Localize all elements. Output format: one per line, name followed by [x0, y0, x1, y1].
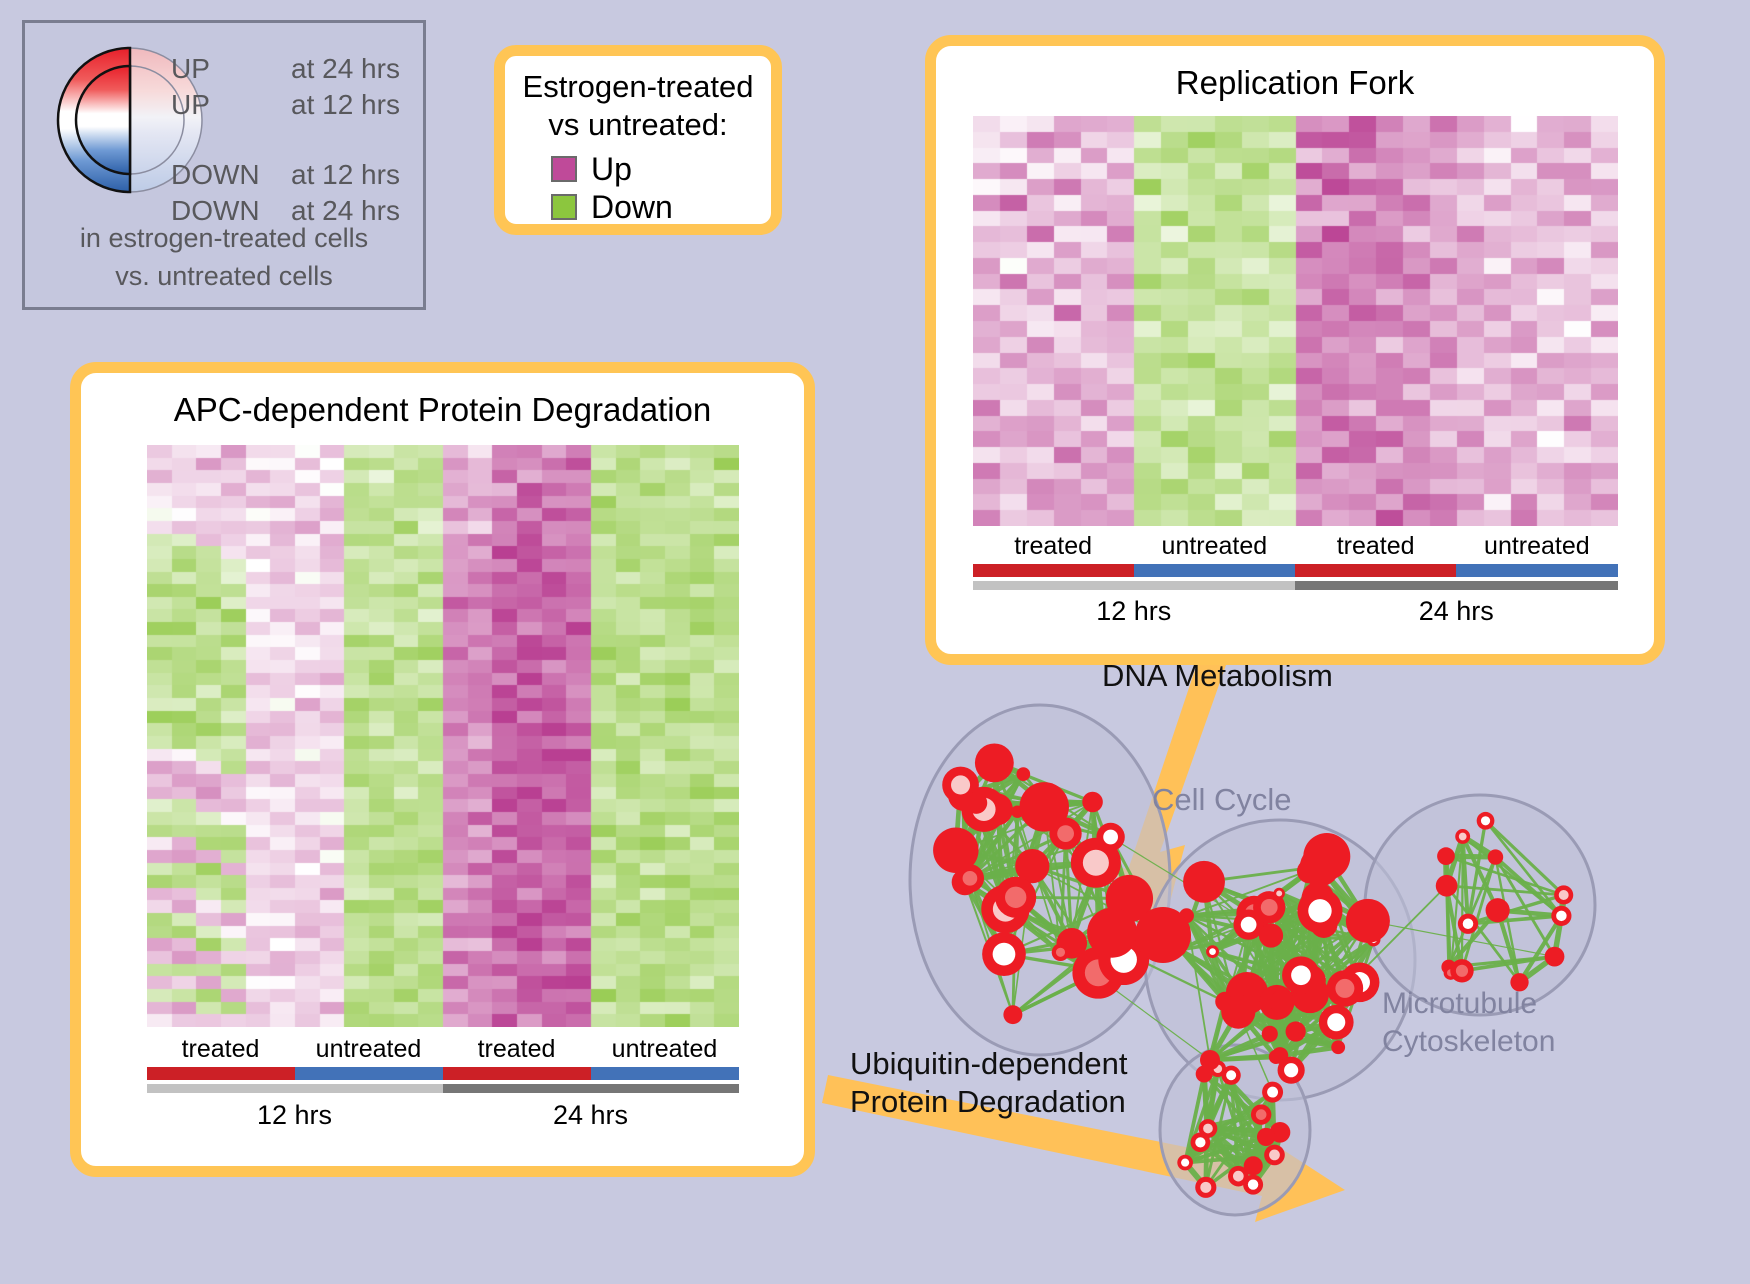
group-bar-untreated	[591, 1067, 739, 1080]
key-time: at 12 hrs	[291, 157, 400, 193]
cluster-label-microtubule-cytoskeleton: Microtubule Cytoskeleton	[1382, 985, 1555, 1061]
group-label: untreated	[1456, 532, 1617, 561]
color-key-note-line2: vs. untreated cells	[25, 257, 423, 295]
time-label: 24 hrs	[1295, 596, 1618, 627]
key-time: at 24 hrs	[291, 51, 400, 87]
group-color-bar-apc	[147, 1067, 739, 1080]
panel-title-apc: APC-dependent Protein Degradation	[81, 373, 804, 429]
time-labels-apc: 12 hrs 24 hrs	[147, 1100, 739, 1131]
group-bar-untreated	[1456, 564, 1617, 577]
group-labels-apc: treated untreated treated untreated	[147, 1035, 739, 1064]
legend-items: Up Down	[505, 150, 771, 226]
group-label: treated	[443, 1035, 591, 1064]
time-label: 24 hrs	[443, 1100, 739, 1131]
group-label: treated	[147, 1035, 295, 1064]
time-labels-replication-fork: 12 hrs 24 hrs	[973, 596, 1618, 627]
legend-swatch-down	[551, 194, 577, 220]
key-row: DOWN at 12 hrs	[171, 157, 423, 193]
color-key-note: in estrogen-treated cells vs. untreated …	[25, 219, 423, 295]
legend-swatch-up	[551, 156, 577, 182]
legend-label-up: Up	[591, 151, 632, 188]
key-direction: UP	[171, 51, 291, 87]
color-key-box: UP at 24 hrs UP at 12 hrs DOWN at 12 hrs…	[22, 20, 426, 310]
group-bar-treated	[147, 1067, 295, 1080]
legend-item-down: Down	[551, 188, 771, 226]
heatmap-replication-fork	[973, 116, 1618, 526]
group-bar-treated	[443, 1067, 591, 1080]
legend-title-line2: vs untreated:	[505, 106, 771, 144]
time-bar-24hrs	[1295, 581, 1618, 590]
group-label: treated	[973, 532, 1134, 561]
time-color-bar-replication-fork	[973, 581, 1618, 590]
key-direction: DOWN	[171, 157, 291, 193]
group-color-bar-replication-fork	[973, 564, 1618, 577]
group-label: untreated	[1134, 532, 1295, 561]
up-down-legend-box: Estrogen-treated vs untreated: Up Down	[494, 45, 782, 235]
legend-title-line1: Estrogen-treated	[505, 68, 771, 106]
key-row: UP at 24 hrs	[171, 51, 423, 87]
time-color-bar-apc	[147, 1084, 739, 1093]
figure-canvas: DNA Metabolism Cell Cycle Microtubule Cy…	[0, 0, 1750, 1279]
legend-item-up: Up	[551, 150, 771, 188]
cluster-label-ubiquitin-protein-degradation: Ubiquitin-dependent Protein Degradation	[850, 1045, 1128, 1121]
color-key-note-line1: in estrogen-treated cells	[25, 219, 423, 257]
group-label: untreated	[295, 1035, 443, 1064]
time-bar-12hrs	[147, 1084, 443, 1093]
key-time: at 12 hrs	[291, 87, 400, 123]
time-bar-12hrs	[973, 581, 1296, 590]
group-bar-treated	[1295, 564, 1456, 577]
cluster-label-cell-cycle: Cell Cycle	[1152, 782, 1292, 818]
panel-replication-fork: Replication Fork treated untreated treat…	[925, 35, 1665, 665]
panel-apc-degradation: APC-dependent Protein Degradation treate…	[70, 362, 815, 1177]
key-row: UP at 12 hrs	[171, 87, 423, 123]
network-svg	[880, 630, 1750, 1279]
time-bar-24hrs	[443, 1084, 739, 1093]
color-key-rows: UP at 24 hrs UP at 12 hrs DOWN at 12 hrs…	[171, 51, 423, 229]
network-diagram: DNA Metabolism Cell Cycle Microtubule Cy…	[880, 630, 1750, 1279]
group-bar-treated	[973, 564, 1134, 577]
panel-title-replication-fork: Replication Fork	[936, 46, 1654, 102]
heatmap-apc	[147, 445, 739, 1027]
group-labels-replication-fork: treated untreated treated untreated	[973, 532, 1618, 561]
legend-title: Estrogen-treated vs untreated:	[505, 56, 771, 144]
group-bar-untreated	[1134, 564, 1295, 577]
group-label: treated	[1295, 532, 1456, 561]
legend-label-down: Down	[591, 189, 673, 226]
time-label: 12 hrs	[973, 596, 1296, 627]
group-label: untreated	[591, 1035, 739, 1064]
group-bar-untreated	[295, 1067, 443, 1080]
time-label: 12 hrs	[147, 1100, 443, 1131]
key-direction: UP	[171, 87, 291, 123]
